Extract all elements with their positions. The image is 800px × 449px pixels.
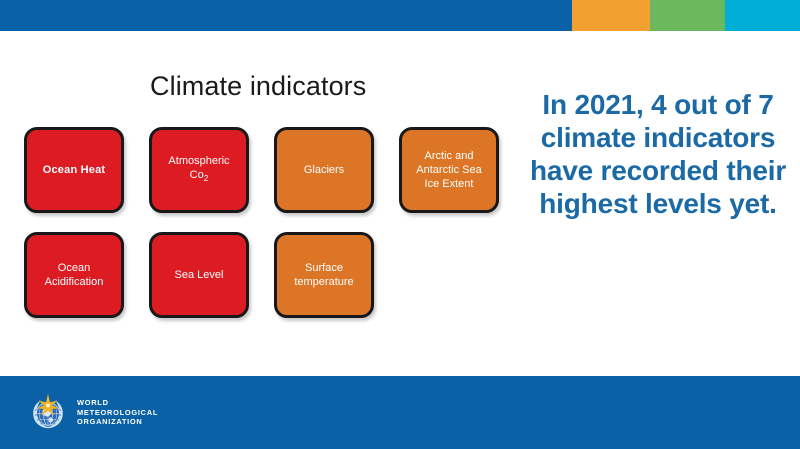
indicator-grid: Ocean Heat Atmospheric Co2 Glaciers Arct… bbox=[0, 0, 520, 340]
slide-canvas: Climate indicators Ocean Heat Atmospheri… bbox=[0, 0, 800, 449]
statement-number-4: 4 bbox=[651, 89, 666, 120]
indicator-label: Glaciers bbox=[283, 163, 365, 177]
wmo-wordmark-line-1: World bbox=[77, 398, 158, 408]
indicator-label: Sea Level bbox=[158, 268, 240, 282]
indicator-label-subscript: 2 bbox=[204, 174, 209, 183]
statement-part-1: In 2021, bbox=[542, 89, 651, 120]
indicator-box-sea-level[interactable]: Sea Level bbox=[149, 232, 249, 318]
indicator-box-ocean-acidification[interactable]: Ocean Acidification bbox=[24, 232, 124, 318]
header-segment-green bbox=[650, 0, 725, 31]
indicator-box-sea-ice-extent[interactable]: Arctic and Antarctic Sea Ice Extent bbox=[399, 127, 499, 213]
indicator-box-atmospheric-co2[interactable]: Atmospheric Co2 bbox=[149, 127, 249, 213]
statement-part-2: out of bbox=[667, 89, 759, 120]
wmo-logo: World Meteorological Organization bbox=[28, 393, 158, 433]
wmo-wordmark: World Meteorological Organization bbox=[77, 398, 158, 427]
indicator-label-text: Atmospheric Co bbox=[168, 155, 229, 181]
footer-bar: World Meteorological Organization bbox=[0, 376, 800, 449]
wmo-wordmark-line-3: Organization bbox=[77, 417, 158, 427]
header-segment-cyan bbox=[725, 0, 800, 31]
indicator-label: Ocean Acidification bbox=[33, 261, 115, 289]
wmo-wordmark-line-2: Meteorological bbox=[77, 408, 158, 418]
statement-part-3: climate indicators have recorded their h… bbox=[530, 122, 786, 219]
wmo-emblem-icon bbox=[28, 393, 68, 433]
indicator-box-surface-temperature[interactable]: Surface temperature bbox=[274, 232, 374, 318]
indicator-label: Surface temperature bbox=[283, 261, 365, 289]
indicator-box-glaciers[interactable]: Glaciers bbox=[274, 127, 374, 213]
statement-text: In 2021, 4 out of 7 climate indicators h… bbox=[524, 88, 792, 220]
indicator-label: Ocean Heat bbox=[33, 163, 115, 177]
header-segment-orange bbox=[572, 0, 650, 31]
indicator-label: Atmospheric Co2 bbox=[158, 154, 240, 186]
indicator-box-ocean-heat[interactable]: Ocean Heat bbox=[24, 127, 124, 213]
indicator-label: Arctic and Antarctic Sea Ice Extent bbox=[408, 149, 490, 191]
statement-number-7: 7 bbox=[758, 89, 773, 120]
